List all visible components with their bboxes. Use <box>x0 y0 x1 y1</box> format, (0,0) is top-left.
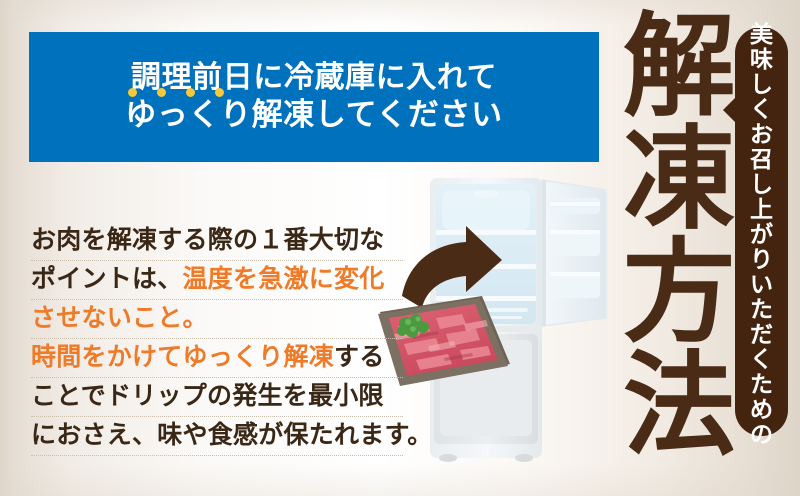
headline-line-2: ゆっくり解凍してください <box>125 97 503 133</box>
body-line: させないこと。 <box>31 300 403 339</box>
body-text-highlight: 温度を急激に変化 <box>183 266 385 293</box>
body-text-plain: お肉を解凍する際の１番大切な <box>31 227 385 254</box>
emphasis-dot-icon <box>128 88 137 97</box>
page-title-char: 解 <box>620 12 738 125</box>
tagline-char: り <box>750 247 773 272</box>
emphasis-dot-icon <box>215 88 224 97</box>
page-title-char: 法 <box>620 351 738 464</box>
tagline-char: た <box>750 297 773 322</box>
body-paragraph: お肉を解凍する際の１番大切なポイントは、温度を急激に変化させないこと。時間をかけ… <box>31 222 403 456</box>
tagline-char: が <box>750 222 773 247</box>
tagline-char: く <box>750 97 773 122</box>
headline-banner: 調理前日に冷蔵庫に入れて ゆっくり解凍してください <box>29 32 599 162</box>
tagline-char: く <box>750 347 773 372</box>
body-text-plain: ポイントは、 <box>31 266 183 293</box>
tagline-char: い <box>750 272 773 297</box>
tagline-char: し <box>750 172 773 197</box>
poster-canvas: 調理前日に冷蔵庫に入れて ゆっくり解凍してください お肉を解凍する際の１番大切な… <box>0 0 800 496</box>
body-text-plain: ことでドリップの発生を最小限 <box>31 383 384 410</box>
fridge-door-open <box>542 180 606 326</box>
headline-line-2-wrapper: ゆっくり解凍してください <box>125 97 503 133</box>
tagline-char: お <box>750 122 773 147</box>
emphasis-dot-icon <box>157 88 166 97</box>
body-text-plain: する <box>334 344 385 371</box>
tagline-char: 味 <box>750 47 773 72</box>
tagline-char: 上 <box>750 197 773 222</box>
tagline-char: 召 <box>750 147 773 172</box>
body-line: ポイントは、温度を急激に変化 <box>31 261 403 300</box>
tagline-char: し <box>750 72 773 97</box>
emphasis-dot-icon <box>186 88 195 97</box>
tagline-char: め <box>750 397 773 422</box>
page-title-vertical: 解凍方法 <box>620 12 738 482</box>
tagline-char: の <box>750 422 773 447</box>
tagline-ribbon-text: 美味しくお召し上がりいただくための <box>735 27 788 436</box>
tagline-char: だ <box>750 322 773 347</box>
page-title-char: 凍 <box>620 125 738 238</box>
body-text-plain: におさえ、味や食感が保たれます。 <box>31 422 433 449</box>
body-text-highlight: させないこと。 <box>31 305 208 332</box>
body-line: 時間をかけてゆっくり解凍する <box>31 339 403 378</box>
tagline-char: た <box>750 372 773 397</box>
emphasis-dots-group <box>128 88 224 97</box>
body-line: お肉を解凍する際の１番大切な <box>31 222 403 261</box>
body-line: におさえ、味や食感が保たれます。 <box>31 417 403 456</box>
body-text-highlight: 時間をかけてゆっくり解凍 <box>31 344 334 371</box>
tagline-ribbon: 美味しくお召し上がりいただくための <box>735 27 788 436</box>
tagline-char: 美 <box>750 22 773 47</box>
body-line: ことでドリップの発生を最小限 <box>31 378 403 417</box>
page-title-char: 方 <box>620 238 738 351</box>
